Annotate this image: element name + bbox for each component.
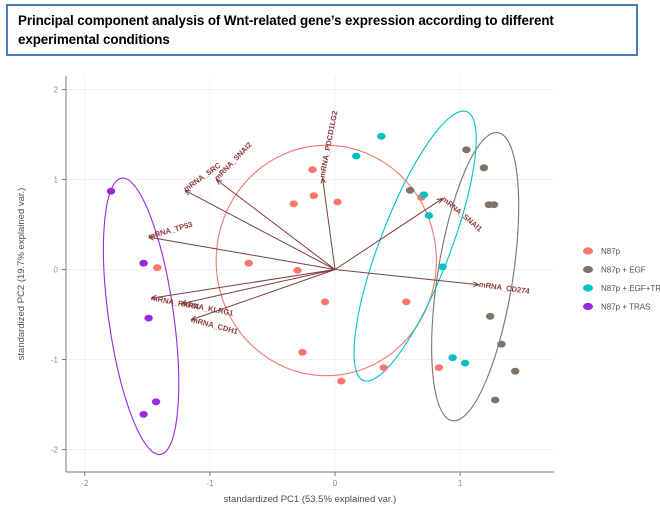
legend-label-3: N87p + TRAS [601,303,650,312]
legend-label-2: N87p + EGF+TRAS [601,284,660,293]
y-tick-label: -2 [51,446,59,455]
data-point [420,191,428,198]
data-point [461,360,469,367]
data-point [511,368,519,375]
legend-key [583,247,593,254]
data-point [244,260,252,267]
data-point [321,299,329,306]
data-point [337,378,345,385]
x-tick-label: 0 [333,479,338,488]
pca-scatter-plot: -2-101-2-1012standardized PC1 (53.5% exp… [0,60,660,508]
y-tick-label: -1 [51,356,59,365]
data-point [298,349,306,356]
data-point [290,200,298,207]
data-point [462,146,470,153]
data-point [448,354,456,361]
data-point [402,299,410,306]
x-tick-label: -1 [206,479,214,488]
data-point [352,153,360,160]
figure-title-box: Principal component analysis of Wnt-rela… [6,4,638,56]
data-point [425,212,433,219]
data-point [333,199,341,206]
data-point [490,201,498,208]
data-point [438,263,446,270]
legend-label-1: N87p + EGF [601,266,646,275]
legend-key [583,284,593,291]
data-point [153,264,161,271]
data-point [139,260,147,267]
legend-label-0: N87p [601,247,621,256]
legend: N87pN87p + EGFN87p + EGF+TRASN87p + TRAS [583,247,660,312]
data-point [310,192,318,199]
y-axis-title: standardized PC2 (19.7% explained var.) [16,188,27,361]
data-point [486,313,494,320]
pca-biplot-figure: -2-101-2-1012standardized PC1 (53.5% exp… [0,60,660,508]
data-point [491,397,499,404]
page-title: Principal component analysis of Wnt-rela… [18,11,626,50]
data-point [380,364,388,371]
data-point [497,341,505,348]
data-point [406,187,414,194]
x-tick-label: 1 [458,479,463,488]
legend-key [583,266,593,273]
grid-lines [66,76,554,472]
data-point [377,133,385,140]
data-point [308,166,316,173]
data-point [152,398,160,405]
y-tick-label: 0 [54,266,59,275]
x-tick-label: -2 [81,479,89,488]
x-axis-title: standardized PC1 (53.5% explained var.) [224,494,397,505]
data-point [144,315,152,322]
data-point [139,411,147,418]
y-tick-label: 1 [54,176,59,185]
data-point [480,164,488,171]
data-point [435,364,443,371]
legend-key [583,303,593,310]
data-point [107,188,115,195]
data-point [293,267,301,274]
y-tick-label: 2 [54,86,59,95]
